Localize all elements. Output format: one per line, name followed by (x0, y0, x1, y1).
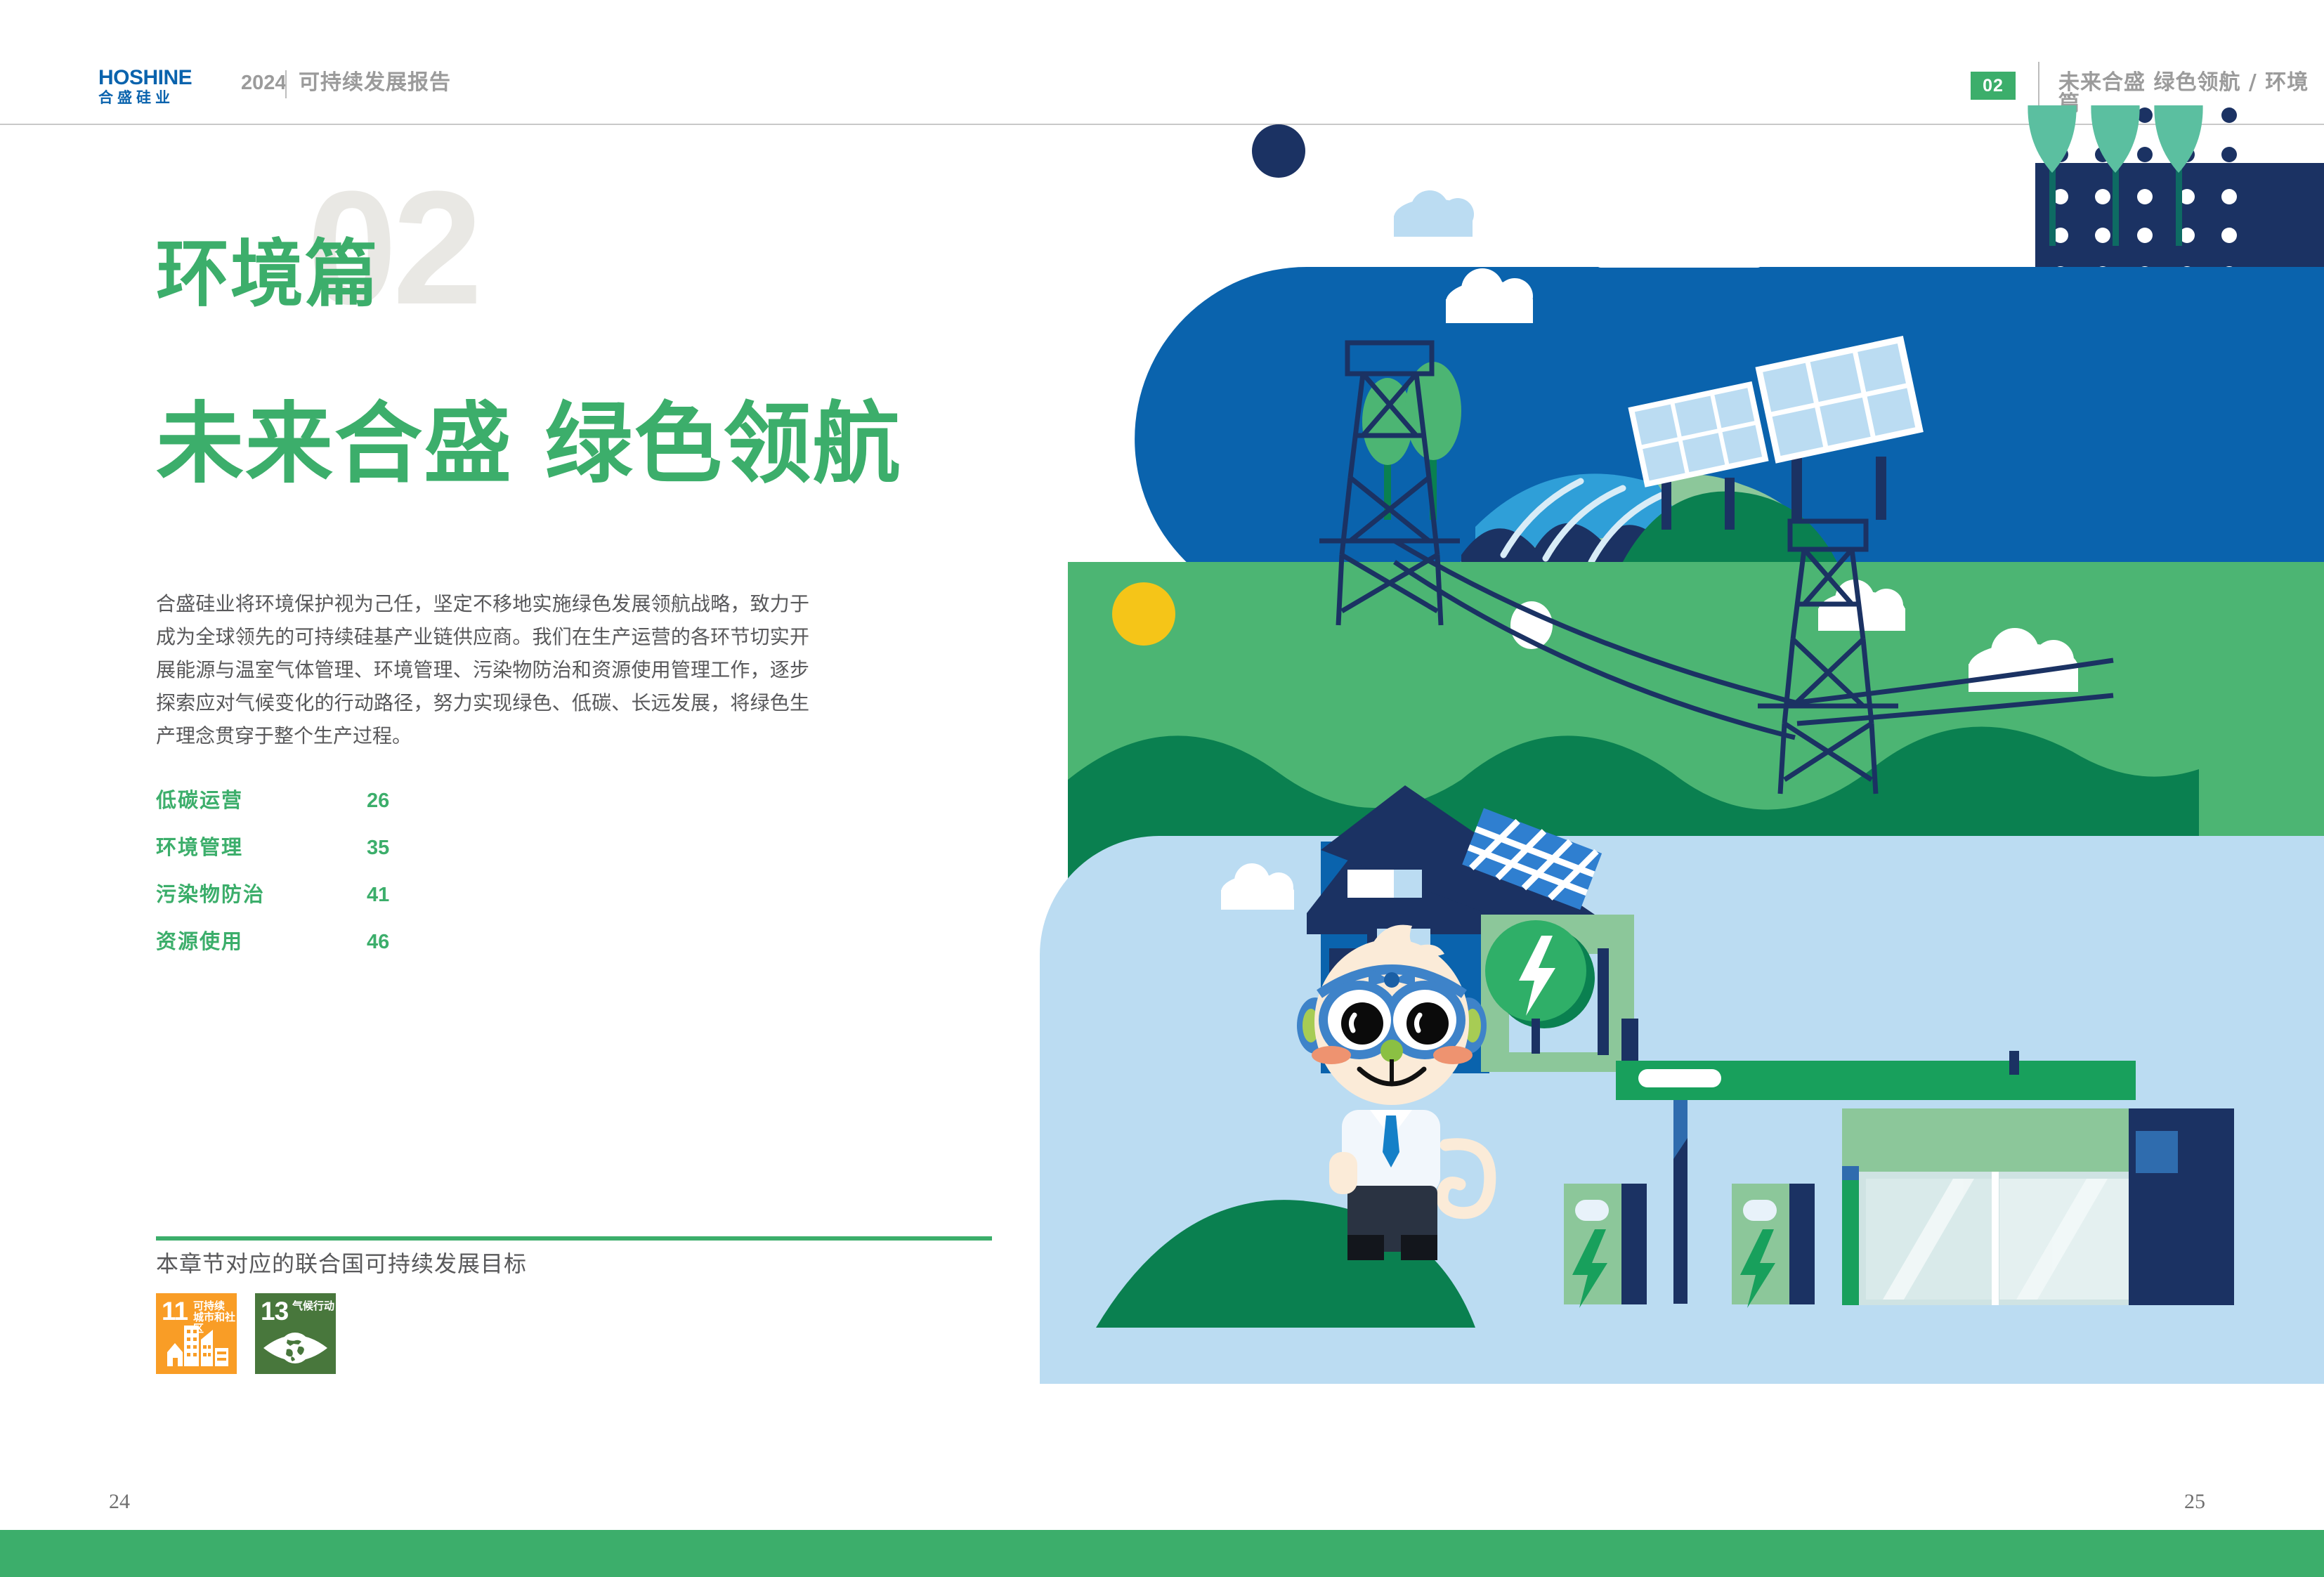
sdg-heading: 本章节对应的联合国可持续发展目标 (156, 1252, 992, 1275)
header-report-title: 可持续发展报告 (299, 72, 451, 93)
toc-item[interactable]: 资源使用 46 (156, 931, 451, 979)
hoshine-logo: HOSHINE 合盛硅业 (98, 67, 204, 111)
page-number-right: 25 (2184, 1491, 2205, 1512)
leaf-trees (2028, 105, 2202, 246)
report-spread: HOSHINE 合盛硅业 2024 可持续发展报告 02 未来合盛 绿色领航 /… (0, 0, 2324, 1577)
toc-item-page: 41 (367, 885, 389, 905)
sdg-icon-list: 11 可持续 城市和社区 (156, 1293, 992, 1374)
canopy-light (1638, 1069, 1721, 1087)
toc-item-page: 46 (367, 932, 389, 953)
toc-item[interactable]: 低碳运营 26 (156, 790, 451, 837)
chapter-label: 环境篇 (156, 237, 379, 310)
header-divider (285, 70, 287, 98)
sdg-goal-11-icon[interactable]: 11 可持续 城市和社区 (156, 1293, 237, 1374)
page-number-left: 24 (109, 1491, 130, 1512)
toc-item-label: 低碳运营 (156, 790, 367, 811)
illustration-green-energy-landscape (1040, 105, 2324, 1475)
toc-item-label: 污染物防治 (156, 884, 367, 905)
header-chapter-badge: 02 (1971, 72, 2016, 100)
chapter-headline: 未来合盛 绿色领航 (156, 400, 902, 488)
navy-circle-accent (1252, 124, 1305, 178)
sdg-rule (156, 1236, 992, 1241)
chapter-toc: 低碳运营 26 环境管理 35 污染物防治 41 资源使用 46 (156, 790, 451, 979)
toc-item-label: 资源使用 (156, 931, 367, 952)
footer-green-bar (0, 1530, 2324, 1577)
logo-wordmark: HOSHINE (98, 67, 204, 89)
yellow-sun (1112, 582, 1175, 646)
sdg-section: 本章节对应的联合国可持续发展目标 11 可持续 城市和社区 (156, 1236, 992, 1374)
toc-item-page: 26 (367, 791, 389, 811)
sdg-goal-13-icon[interactable]: 13 气候行动 (255, 1293, 336, 1374)
header-year: 2024 (241, 73, 287, 93)
chapter-intro-paragraph: 合盛硅业将环境保护视为己任，坚定不移地实施绿色发展领航战略，致力于成为全球领先的… (156, 587, 809, 752)
logo-wordmark-cn: 合盛硅业 (98, 91, 204, 105)
city-buildings-icon (156, 1293, 237, 1374)
store-awning (1842, 1108, 2137, 1173)
toc-item-label: 环境管理 (156, 837, 367, 858)
building-dot-grid-above (2053, 107, 2237, 162)
header-divider-right (2038, 62, 2039, 107)
climate-eye-globe-icon (255, 1293, 336, 1374)
toc-item[interactable]: 环境管理 35 (156, 837, 451, 884)
cloud-white-on-blue-2 (1595, 255, 1763, 268)
cloud-pale-top (1394, 190, 1474, 237)
toc-item[interactable]: 污染物防治 41 (156, 884, 451, 931)
toc-item-page: 35 (367, 838, 389, 858)
